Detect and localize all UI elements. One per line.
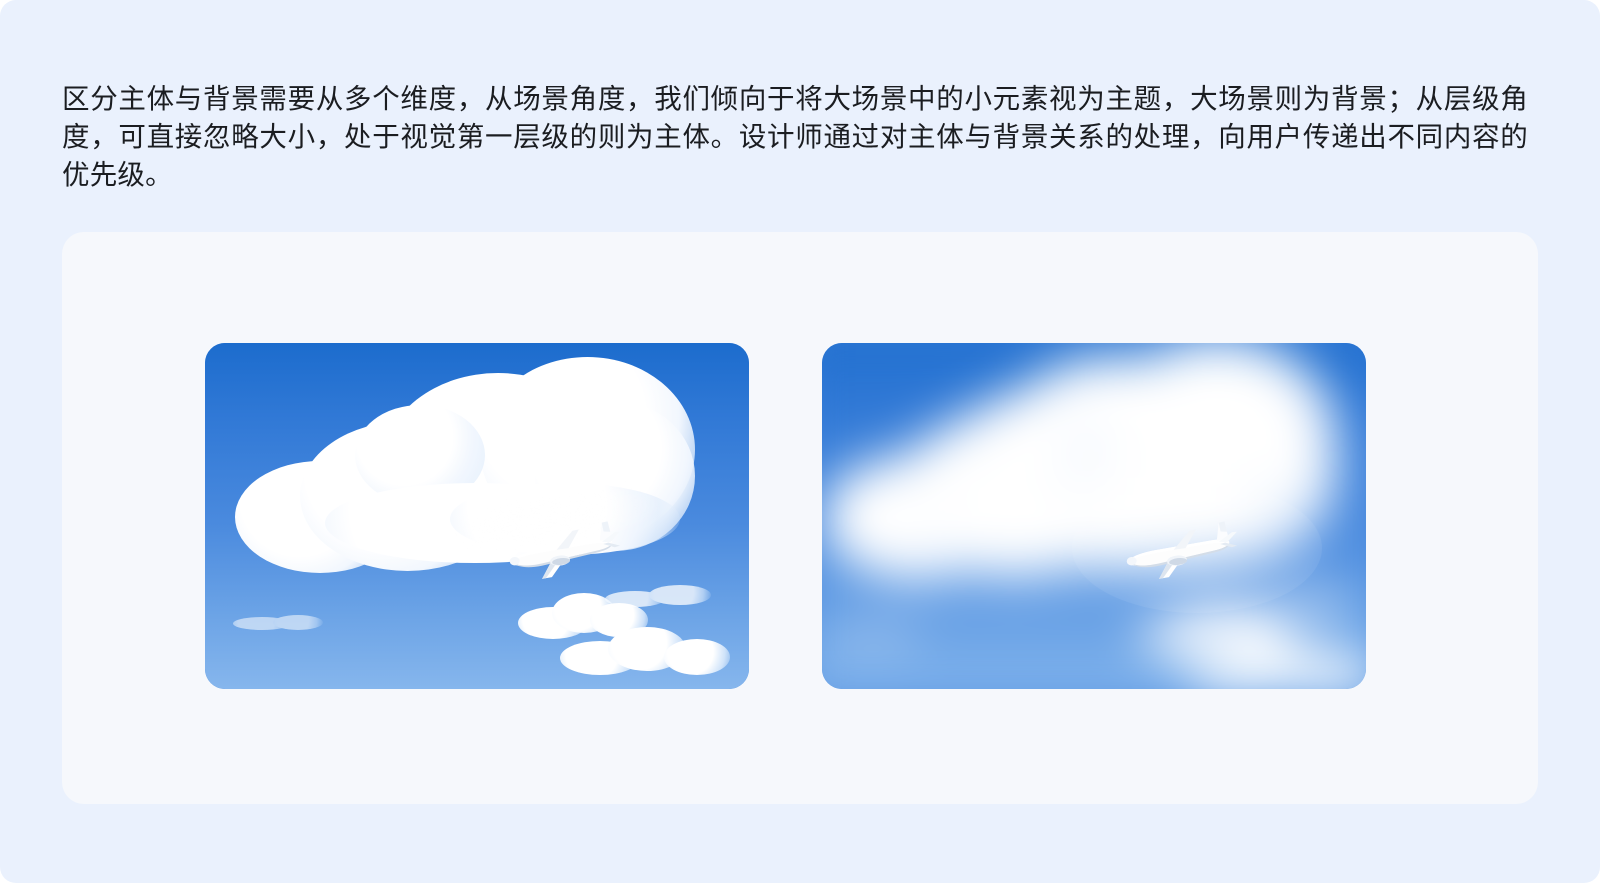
body-paragraph: 区分主体与背景需要从多个维度，从场景角度，我们倾向于将大场景中的小元素视为主题，…	[62, 80, 1528, 194]
sharp-sky-photo[interactable]	[205, 343, 749, 689]
airplane-icon	[505, 523, 632, 581]
airplane-icon	[1122, 523, 1249, 581]
image-row	[205, 343, 1366, 689]
sharp-subject-layer	[822, 343, 1366, 689]
page-root: 区分主体与背景需要从多个维度，从场景角度，我们倾向于将大场景中的小元素视为主题，…	[0, 0, 1600, 883]
image-showcase-card	[62, 232, 1538, 804]
wispy-cloud	[233, 615, 323, 633]
small-cloud-right	[560, 625, 730, 681]
blurred-sky-photo[interactable]	[822, 343, 1366, 689]
